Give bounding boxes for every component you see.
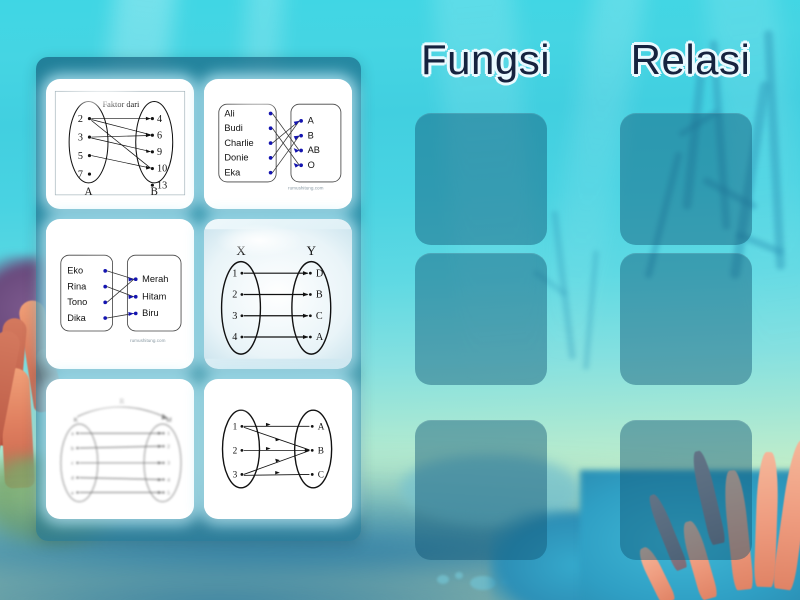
card-warna-kesukaan[interactable]: Eko Rina Tono Dika Merah Hitam Biru — [46, 219, 194, 369]
dropzone-relasi-2[interactable] — [620, 253, 752, 385]
card2-left-item: Charlie — [224, 138, 253, 148]
golongan-darah-diagram: Ali Budi Charlie Donie Eka A B AB O — [204, 79, 352, 209]
card5-right-item: 5 — [167, 490, 170, 496]
card-tray: Faktor dari 2 3 5 7 4 6 9 10 13 — [36, 57, 361, 541]
card1-right-item: 4 — [157, 114, 162, 125]
card6-right-item: C — [317, 471, 323, 481]
himpunan-xy-diagram: X Y 1 2 3 4 D B C A — [204, 219, 352, 369]
card1-left-item: 3 — [77, 132, 82, 143]
card2-left-item: Eka — [224, 167, 241, 177]
card1-left-item: 2 — [77, 114, 82, 125]
card1-left-item: 5 — [77, 151, 82, 162]
card-himpunan-123-abc[interactable]: 1 2 3 A B C — [204, 379, 352, 519]
card4-left-item: 3 — [232, 311, 237, 322]
card2-right-item: O — [307, 160, 314, 170]
card1-left-item: 7 — [77, 169, 82, 180]
column-header-relasi: Relasi — [618, 36, 763, 84]
card5-right-set-label: M — [166, 417, 171, 424]
card4-left-set-label: X — [236, 243, 246, 258]
card3-right-item: Merah — [142, 274, 168, 284]
card4-right-item: A — [315, 332, 323, 343]
card-himpunan-km[interactable]: R K M a b c d e 1 — [46, 379, 194, 519]
card3-watermark: rumushitung.com — [130, 338, 166, 343]
card1-right-item: 10 — [157, 164, 167, 175]
pebble — [437, 575, 449, 584]
himpunan-km-diagram: R K M a b c d e 1 — [46, 379, 194, 519]
card6-right-item: B — [317, 447, 323, 457]
dropzone-fungsi-1[interactable] — [415, 113, 547, 245]
card6-left-item: 1 — [232, 423, 237, 433]
card2-watermark: rumushitung.com — [288, 185, 324, 190]
activity-stage: Faktor dari 2 3 5 7 4 6 9 10 13 — [0, 0, 800, 600]
card5-right-item: 3 — [167, 461, 170, 467]
card2-left-item: Ali — [224, 108, 234, 118]
dropzone-relasi-1[interactable] — [620, 113, 752, 245]
card3-left-item: Dika — [67, 313, 86, 323]
card1-right-set-label: B — [150, 186, 157, 198]
faktor-dari-diagram: Faktor dari 2 3 5 7 4 6 9 10 13 — [46, 79, 194, 209]
card-faktor-dari[interactable]: Faktor dari 2 3 5 7 4 6 9 10 13 — [46, 79, 194, 209]
card3-right-item: Hitam — [142, 292, 166, 302]
dropzone-relasi-3[interactable] — [620, 420, 752, 560]
card5-right-item: 2 — [167, 444, 170, 450]
dropzone-fungsi-3[interactable] — [415, 420, 547, 560]
card4-right-set-label: Y — [306, 243, 316, 258]
card6-left-item: 3 — [232, 471, 237, 481]
card2-right-item: AB — [307, 145, 319, 155]
card5-left-set-label: K — [73, 417, 78, 424]
column-header-fungsi: Fungsi — [413, 36, 558, 84]
card2-right-item: B — [307, 130, 313, 140]
pebble — [455, 572, 463, 579]
card4-left-item: 1 — [232, 268, 237, 279]
card5-left-item: b — [70, 446, 73, 452]
card3-left-item: Tono — [67, 297, 87, 307]
card1-right-item: 13 — [157, 180, 167, 191]
card6-right-item: A — [317, 423, 324, 433]
card4-left-item: 4 — [232, 332, 237, 343]
card5-caption: R — [119, 397, 124, 406]
card2-left-item: Donie — [224, 153, 248, 163]
card1-left-set-label: A — [84, 186, 92, 198]
card1-caption: Faktor dari — [102, 100, 139, 109]
card6-left-item: 2 — [232, 447, 237, 457]
card1-right-item: 6 — [157, 130, 162, 141]
card-himpunan-xy[interactable]: X Y 1 2 3 4 D B C A — [204, 219, 352, 369]
card4-left-item: 2 — [232, 290, 237, 301]
card4-right-item: D — [315, 268, 322, 279]
card5-left-item: d — [70, 476, 73, 482]
himpunan-123-abc-diagram: 1 2 3 A B C — [204, 379, 352, 519]
warna-kesukaan-diagram: Eko Rina Tono Dika Merah Hitam Biru — [46, 219, 194, 369]
card2-left-item: Budi — [224, 123, 243, 133]
card3-left-item: Eko — [67, 266, 83, 276]
card4-right-item: C — [315, 311, 322, 322]
card4-right-item: B — [315, 290, 322, 301]
card3-left-item: Rina — [67, 281, 87, 291]
card5-right-item: 1 — [167, 431, 170, 437]
dropzone-fungsi-2[interactable] — [415, 253, 547, 385]
card-golongan-darah[interactable]: Ali Budi Charlie Donie Eka A B AB O — [204, 79, 352, 209]
card3-right-item: Biru — [142, 308, 158, 318]
card1-right-item: 9 — [157, 147, 162, 158]
card5-right-item: 4 — [167, 477, 170, 483]
card2-right-item: A — [307, 116, 314, 126]
